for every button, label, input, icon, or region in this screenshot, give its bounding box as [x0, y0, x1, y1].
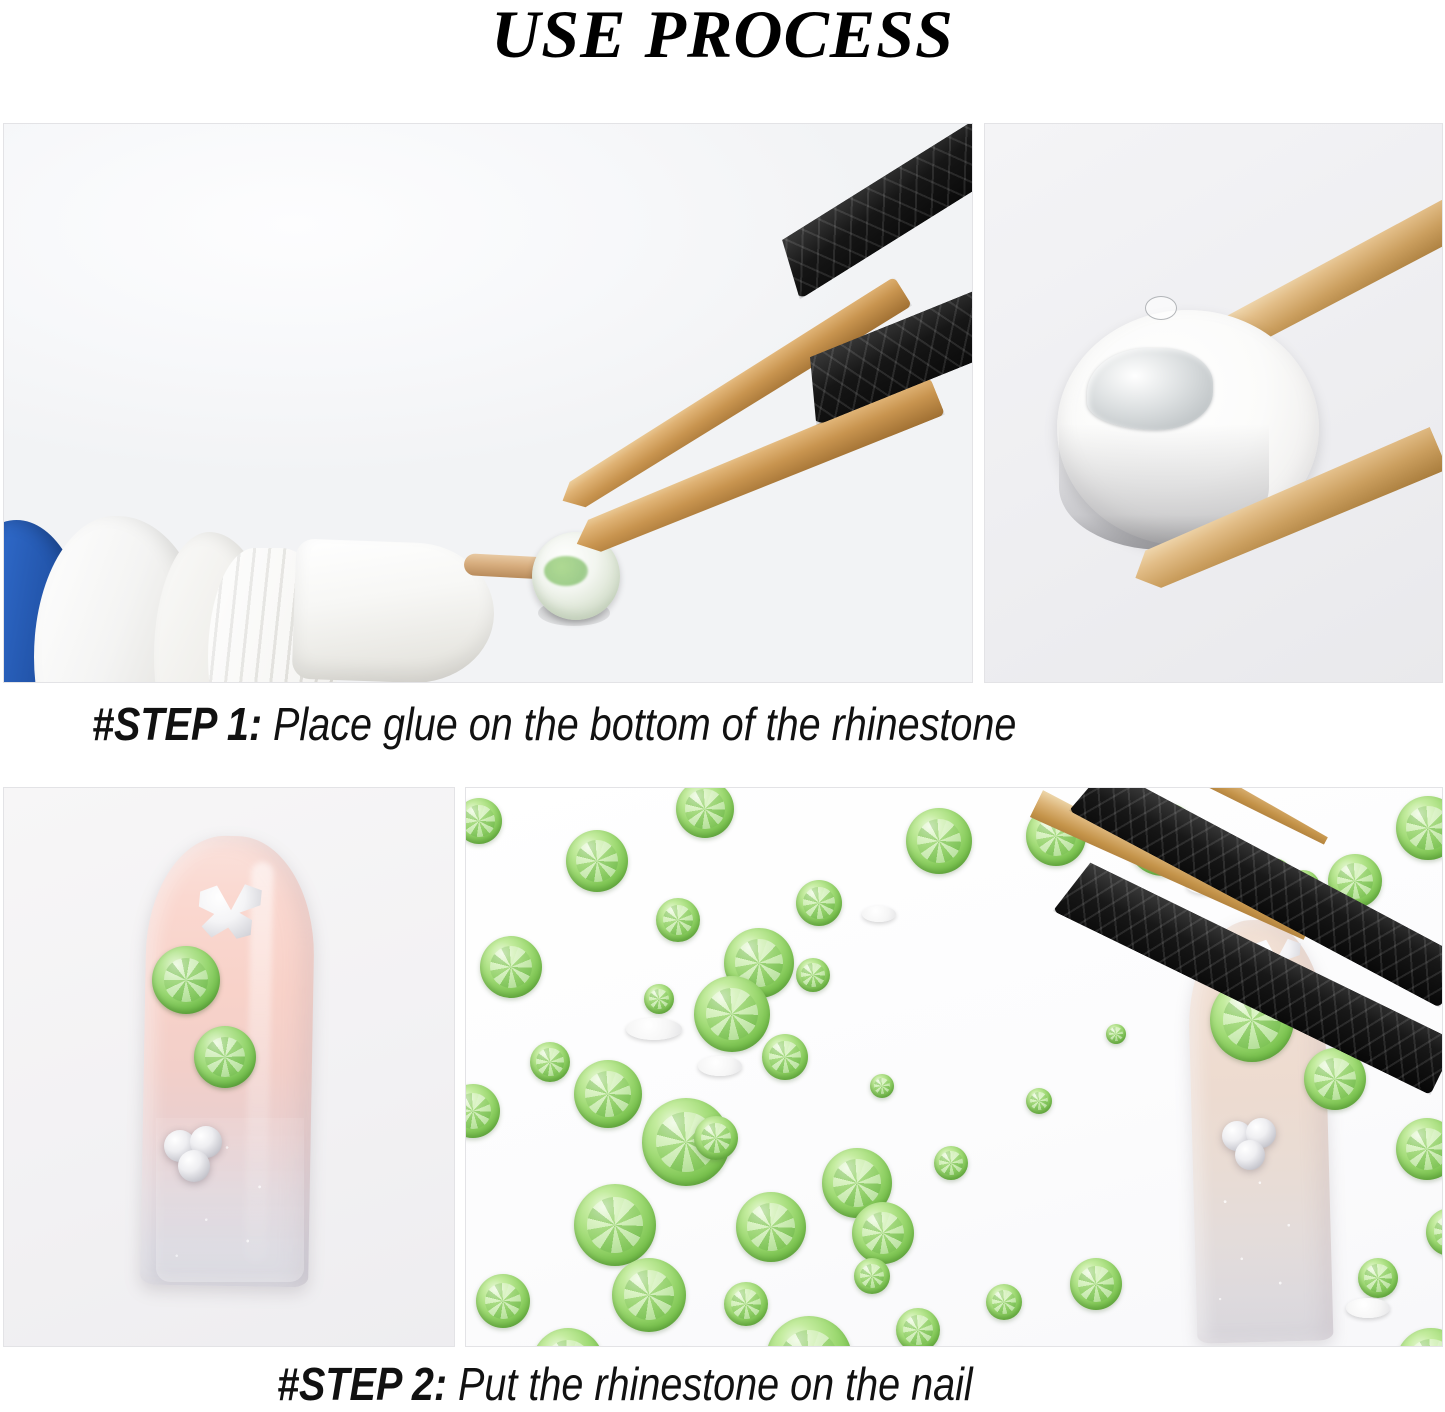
glue-bubble: [1145, 296, 1177, 320]
step-2-caption: #STEP 2: Put the rhinestone on the nail: [277, 1358, 973, 1410]
green-rhinestone: [694, 1116, 738, 1160]
green-rhinestone: [694, 976, 770, 1052]
green-rhinestone: [612, 1258, 686, 1332]
green-rhinestone: [762, 1034, 808, 1080]
green-rhinestone: [1358, 1258, 1398, 1298]
green-rhinestone: [852, 1202, 914, 1264]
green-rhinestone: [986, 1284, 1022, 1320]
green-rhinestone: [476, 1274, 530, 1328]
photo-panel-glue-application: [3, 123, 973, 683]
nail-glitter-tip: [1194, 1152, 1325, 1335]
green-rhinestone: [906, 808, 972, 874]
green-rhinestone: [530, 1042, 570, 1082]
green-rhinestone: [796, 880, 842, 926]
rhinestone-flat-back: [862, 906, 896, 922]
green-rhinestone: [1026, 1088, 1052, 1114]
glue-blob: [1087, 348, 1213, 430]
green-rhinestone: [574, 1184, 656, 1266]
green-rhinestone-large: [152, 946, 220, 1014]
rhinestone-flat-back: [698, 1056, 742, 1076]
photo-panel-rhinestone-scatter: [465, 787, 1443, 1347]
green-rhinestone: [656, 898, 700, 942]
green-rhinestone: [724, 1282, 768, 1326]
green-rhinestone: [644, 984, 674, 1014]
flower-petal: [178, 1150, 210, 1182]
green-rhinestone: [480, 936, 542, 998]
step-1-tag: #STEP 1:: [92, 698, 262, 750]
green-rhinestone: [574, 1060, 642, 1128]
flower-petal: [1235, 1140, 1265, 1170]
green-rhinestone: [736, 1192, 806, 1262]
green-rhinestone: [854, 1258, 890, 1294]
step-1-caption: #STEP 1: Place glue on the bottom of the…: [92, 698, 1016, 750]
step-2-text: Put the rhinestone on the nail: [447, 1358, 973, 1410]
green-rhinestone: [1106, 1024, 1126, 1044]
rhinestone-flat-back: [1346, 1298, 1390, 1318]
rhinestone-green-tint: [544, 556, 588, 586]
step-2-tag: #STEP 2:: [277, 1358, 447, 1410]
green-rhinestone: [870, 1074, 894, 1098]
green-rhinestone-medium: [194, 1026, 256, 1088]
step-1-text: Place glue on the bottom of the rhinesto…: [262, 698, 1016, 750]
green-rhinestone: [1070, 1258, 1122, 1310]
photo-panel-rhinestone-bottom: [984, 123, 1443, 683]
green-rhinestone: [566, 830, 628, 892]
flower-rhinestone: [1222, 1118, 1280, 1170]
rhinestone-flat-back: [626, 1018, 682, 1040]
green-rhinestone: [896, 1308, 940, 1347]
green-rhinestone: [934, 1146, 968, 1180]
page-title: USE PROCESS: [0, 0, 1445, 70]
photo-panel-decorated-nail: [3, 787, 455, 1347]
green-rhinestone: [796, 958, 830, 992]
flower-rhinestone: [164, 1126, 226, 1182]
